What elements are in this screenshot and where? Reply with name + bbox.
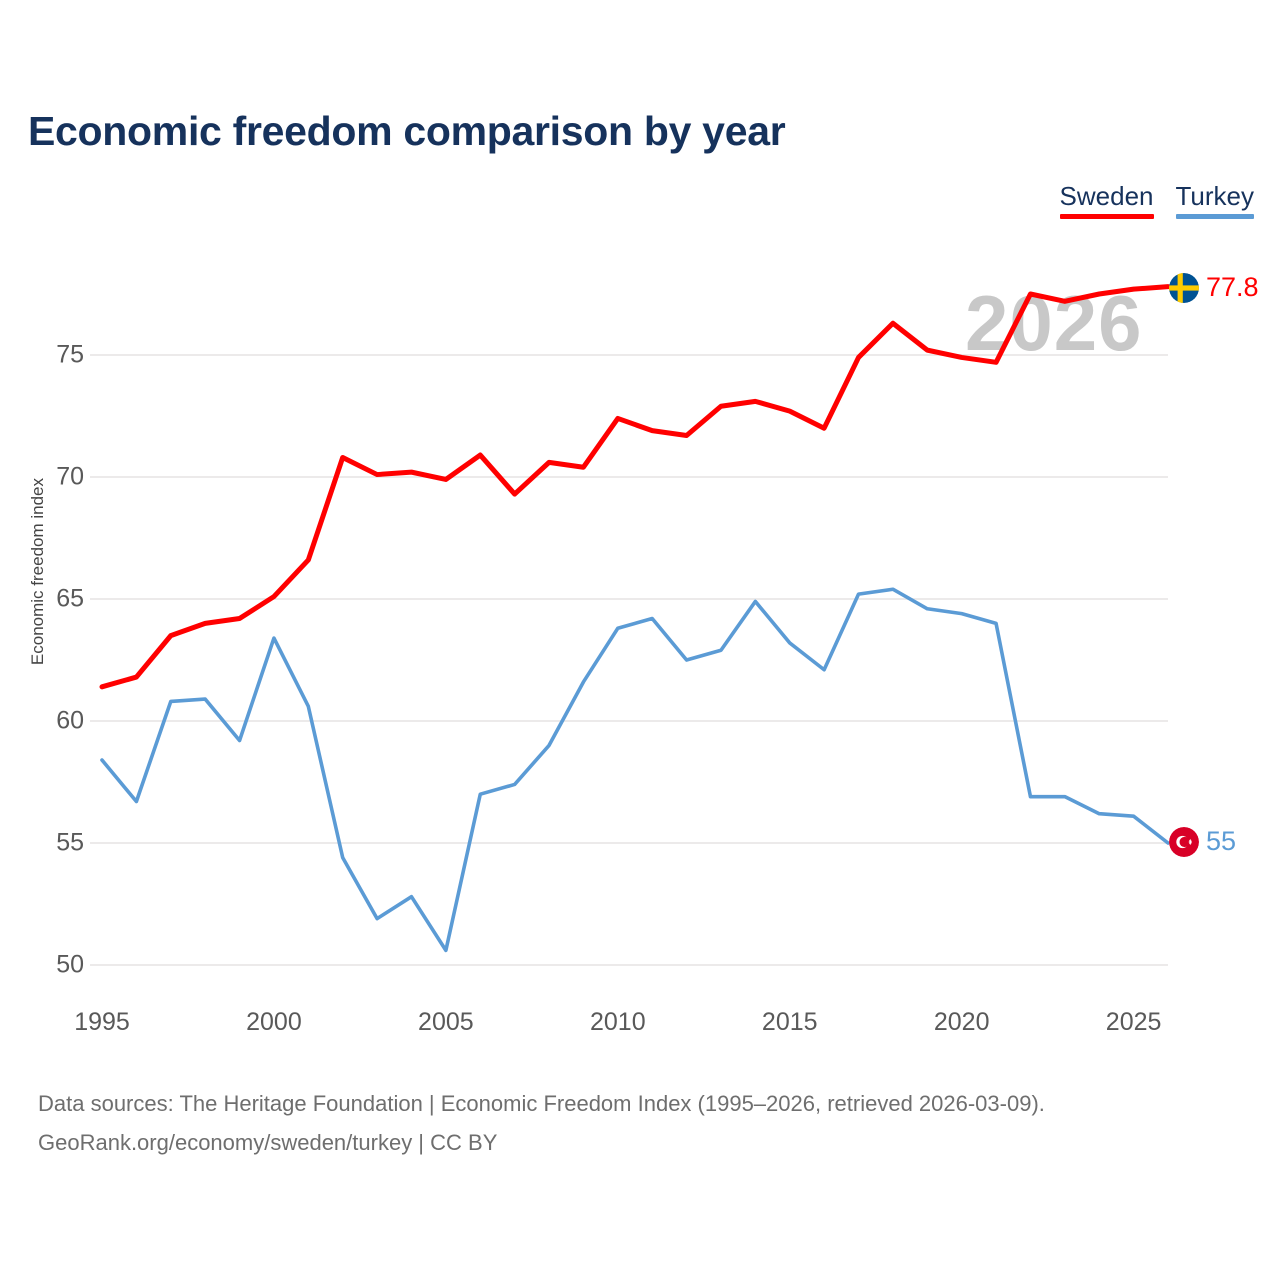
x-tick-label: 2020: [934, 1008, 990, 1037]
sweden-flag-icon: [1169, 273, 1199, 303]
x-tick-label: 2015: [762, 1008, 818, 1037]
legend-label-turkey: Turkey: [1176, 183, 1255, 210]
y-tick-label: 55: [24, 829, 84, 858]
sweden-endpoint-marker: 77.8: [1169, 272, 1259, 303]
y-tick-label: 60: [24, 707, 84, 736]
page-title: Economic freedom comparison by year: [28, 108, 785, 155]
turkey-endpoint-value: 55: [1206, 826, 1236, 857]
turkey-endpoint-marker: 55: [1169, 826, 1236, 857]
legend: Sweden Turkey: [1060, 183, 1254, 219]
series-line-sweden: [102, 287, 1168, 687]
x-tick-label: 2000: [246, 1008, 302, 1037]
legend-label-sweden: Sweden: [1060, 183, 1154, 210]
y-tick-label: 50: [24, 951, 84, 980]
y-tick-label: 75: [24, 341, 84, 370]
legend-item-sweden[interactable]: Sweden: [1060, 183, 1154, 219]
footer-line-1: Data sources: The Heritage Foundation | …: [38, 1085, 1248, 1124]
chart-page: Economic freedom comparison by year Swed…: [0, 0, 1280, 1280]
x-tick-label: 2005: [418, 1008, 474, 1037]
footer-line-2: GeoRank.org/economy/sweden/turkey | CC B…: [38, 1124, 1248, 1163]
turkey-flag-icon: [1169, 827, 1199, 857]
legend-item-turkey[interactable]: Turkey: [1176, 183, 1255, 219]
series-line-turkey: [102, 589, 1168, 950]
x-axis-tick-labels: 1995200020052010201520202025: [0, 1008, 1280, 1048]
gridlines: [90, 355, 1168, 965]
legend-swatch-turkey: [1176, 214, 1255, 219]
footer-sources: Data sources: The Heritage Foundation | …: [38, 1085, 1248, 1162]
x-tick-label: 1995: [74, 1008, 130, 1037]
series-lines: [102, 287, 1168, 951]
sweden-endpoint-value: 77.8: [1206, 272, 1259, 303]
legend-swatch-sweden: [1060, 214, 1154, 219]
x-tick-label: 2025: [1106, 1008, 1162, 1037]
line-chart-plot: [0, 240, 1280, 1000]
y-tick-label: 70: [24, 463, 84, 492]
x-tick-label: 2010: [590, 1008, 646, 1037]
y-tick-label: 65: [24, 585, 84, 614]
